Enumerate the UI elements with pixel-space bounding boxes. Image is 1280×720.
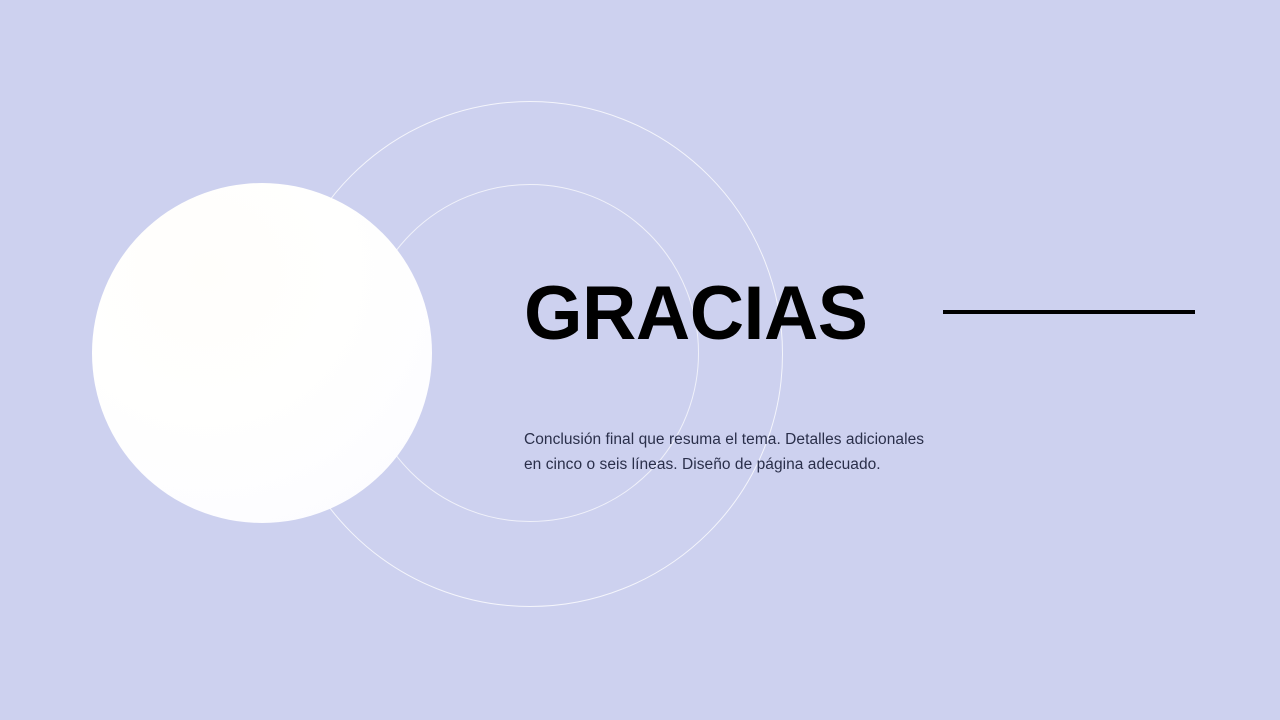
slide-canvas: GRACIAS Conclusión final que resuma el t…: [0, 0, 1280, 720]
slide-content: GRACIAS Conclusión final que resuma el t…: [0, 0, 1280, 720]
title-underline-rule: [943, 310, 1195, 314]
title-block: GRACIAS: [524, 272, 1224, 356]
body-text-line: Conclusión final que resuma el tema. Det…: [524, 427, 1024, 452]
page-title: GRACIAS: [524, 276, 867, 352]
body-text-block: Conclusión final que resuma el tema. Det…: [524, 427, 1024, 477]
body-text-line: en cinco o seis líneas. Diseño de página…: [524, 452, 1024, 477]
